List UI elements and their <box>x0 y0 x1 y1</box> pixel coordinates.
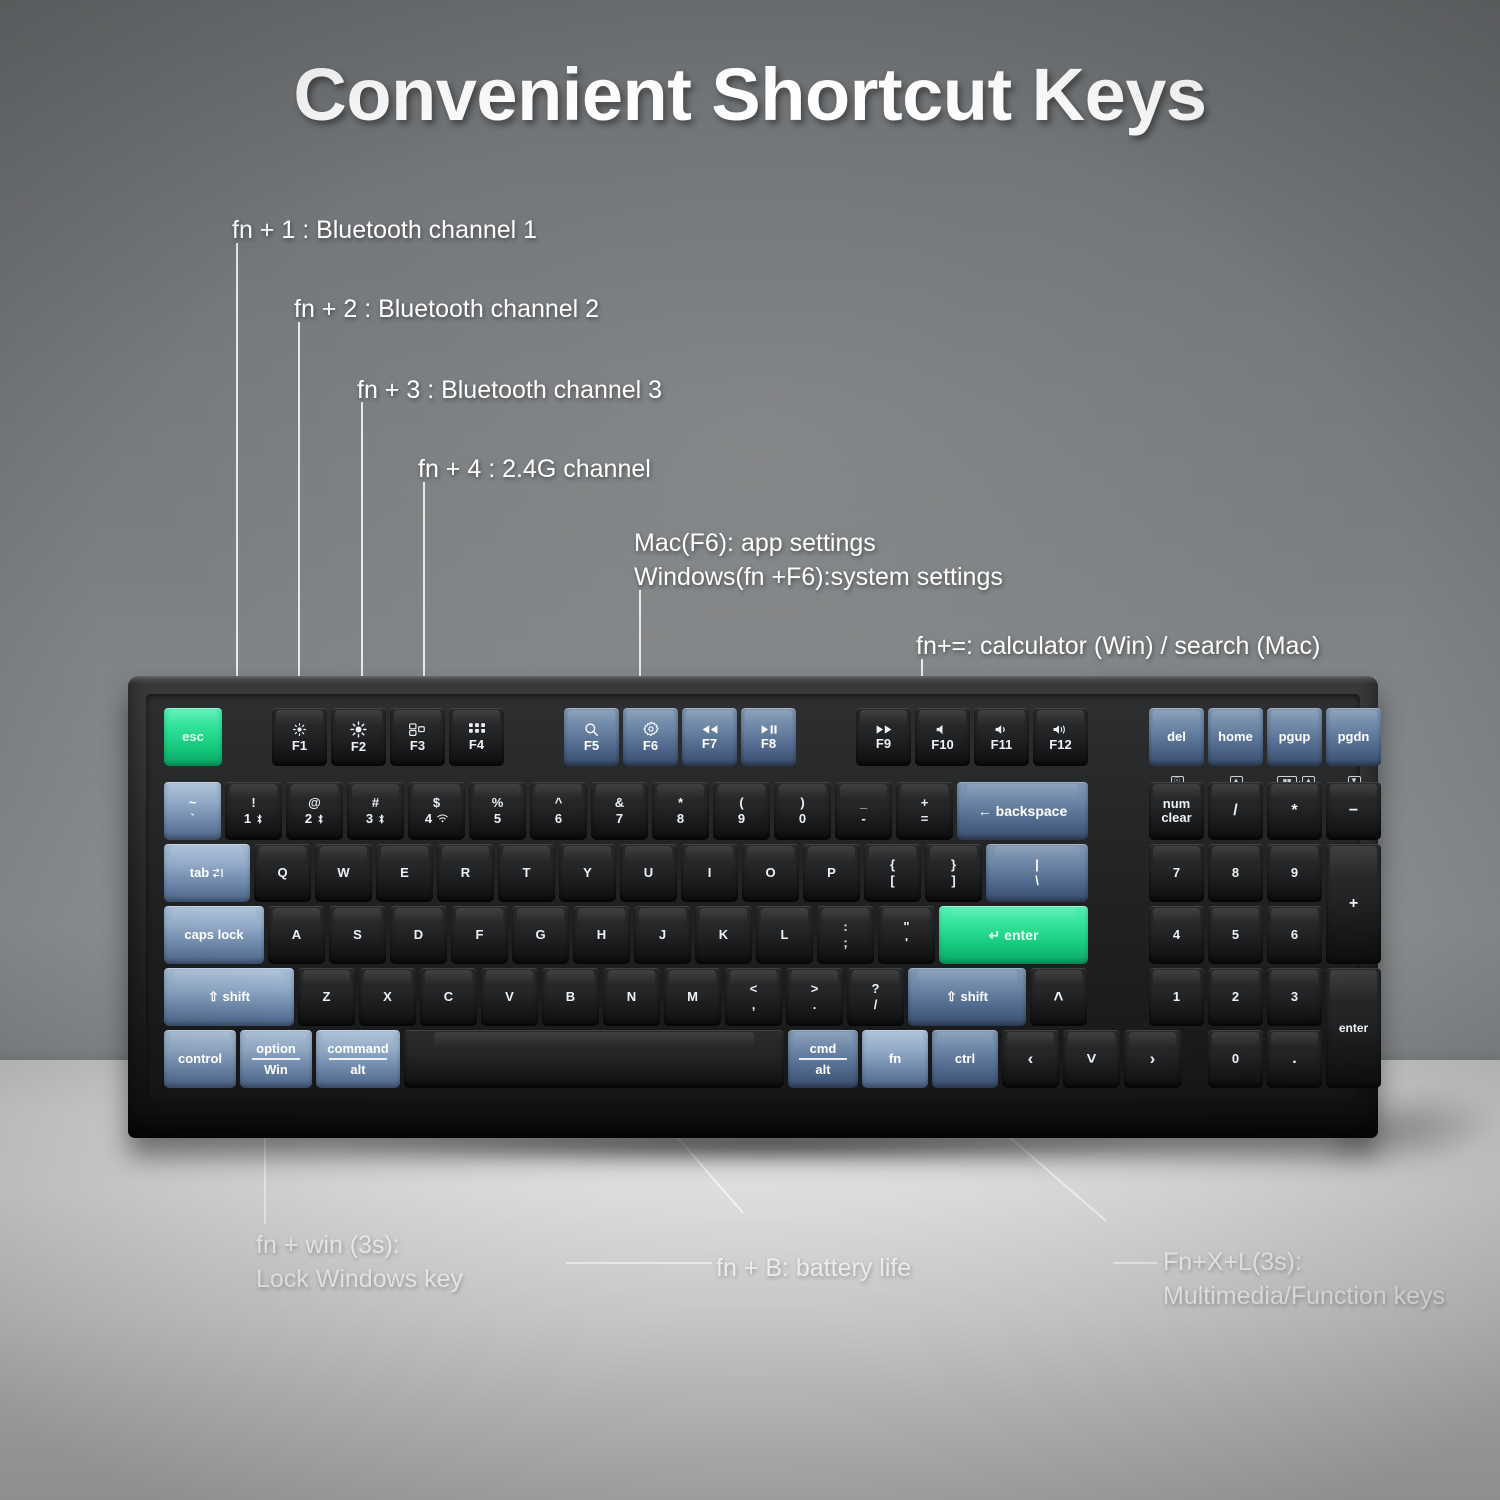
key-x[interactable]: X <box>359 968 416 1026</box>
key-home[interactable]: home <box>1208 708 1263 766</box>
key-arrow-left[interactable]: ‹ <box>1002 1030 1059 1088</box>
key-f10[interactable]: F10 <box>915 708 970 766</box>
key-backspace[interactable]: ← backspace <box>957 782 1088 840</box>
callout-24g-channel: fn + 4 : 2.4G channel <box>418 452 651 486</box>
keyboard-plate: esc F1 F2 F3 F4 <box>146 694 1360 1100</box>
keyboard-body: esc F1 F2 F3 F4 <box>128 676 1378 1138</box>
launchpad-icon <box>469 723 485 736</box>
key-pgup[interactable]: pgup <box>1267 708 1322 766</box>
key-p[interactable]: P <box>803 844 860 902</box>
key-arrow-up[interactable]: ˄ <box>1030 968 1087 1026</box>
key-numpad-8[interactable]: 8 <box>1208 844 1263 902</box>
key-shift-right[interactable]: ⇧ shift <box>908 968 1026 1026</box>
key-del[interactable]: del <box>1149 708 1204 766</box>
key-enter[interactable]: ↵ enter <box>939 906 1088 964</box>
key-numpad-minus[interactable]: − <box>1326 782 1381 840</box>
key-c[interactable]: C <box>420 968 477 1026</box>
key-shift-left[interactable]: ⇧ shift <box>164 968 294 1026</box>
key-9[interactable]: (9 <box>713 782 770 840</box>
key-4[interactable]: $ 4 <box>408 782 465 840</box>
wifi-icon <box>437 814 448 823</box>
key-numpad-9[interactable]: 9 <box>1267 844 1322 902</box>
key-comma[interactable]: <, <box>725 968 782 1026</box>
key-backslash[interactable]: |\ <box>986 844 1088 902</box>
key-j[interactable]: J <box>634 906 691 964</box>
fast-forward-icon <box>875 724 893 735</box>
gear-icon <box>643 721 659 737</box>
key-tab[interactable]: tab <box>164 844 250 902</box>
key-semicolon[interactable]: :; <box>817 906 874 964</box>
key-d[interactable]: D <box>390 906 447 964</box>
callout-bluetooth-2: fn + 2 : Bluetooth channel 2 <box>294 292 599 326</box>
key-1[interactable]: ! 1 <box>225 782 282 840</box>
key-caps-lock[interactable]: caps lock <box>164 906 264 964</box>
bluetooth-icon <box>378 814 385 824</box>
key-0[interactable]: )0 <box>774 782 831 840</box>
callout-multimedia-function: Fn+X+L(3s): Multimedia/Function keys <box>1163 1245 1445 1313</box>
key-numpad-1[interactable]: 1 <box>1149 968 1204 1026</box>
key-r[interactable]: R <box>437 844 494 902</box>
tab-arrows-icon <box>213 868 224 878</box>
key-num-clear[interactable]: num clear <box>1149 782 1204 840</box>
key-minus[interactable]: _- <box>835 782 892 840</box>
key-v[interactable]: V <box>481 968 538 1026</box>
key-g[interactable]: G <box>512 906 569 964</box>
key-8[interactable]: *8 <box>652 782 709 840</box>
key-6[interactable]: ^6 <box>530 782 587 840</box>
key-bracket-left[interactable]: {[ <box>864 844 921 902</box>
product-photo-scene: Convenient Shortcut Keys fn + 1 : Blueto… <box>0 0 1500 1500</box>
key-numpad-4[interactable]: 4 <box>1149 906 1204 964</box>
mission-control-icon <box>409 722 427 737</box>
key-slash[interactable]: ?/ <box>847 968 904 1026</box>
key-equal[interactable]: += <box>896 782 953 840</box>
key-f5[interactable]: F5 <box>564 708 619 766</box>
key-f2[interactable]: F2 <box>331 708 386 766</box>
key-f4[interactable]: F4 <box>449 708 504 766</box>
leader-line-battery-h <box>566 1262 712 1264</box>
callout-f6-settings: Mac(F6): app settings Windows(fn +F6):sy… <box>634 526 1003 594</box>
page-title: Convenient Shortcut Keys <box>0 52 1500 137</box>
key-z[interactable]: Z <box>298 968 355 1026</box>
key-numpad-enter[interactable]: enter <box>1326 968 1381 1088</box>
callout-battery-life: fn + B: battery life <box>716 1251 911 1285</box>
key-numpad-multiply[interactable]: * <box>1267 782 1322 840</box>
key-f3[interactable]: F3 <box>390 708 445 766</box>
key-5[interactable]: %5 <box>469 782 526 840</box>
key-bracket-right[interactable]: }] <box>925 844 982 902</box>
key-e[interactable]: E <box>376 844 433 902</box>
key-period[interactable]: >. <box>786 968 843 1026</box>
callout-calculator-search: fn+=: calculator (Win) / search (Mac) <box>916 629 1320 663</box>
key-7[interactable]: &7 <box>591 782 648 840</box>
callout-bluetooth-3: fn + 3 : Bluetooth channel 3 <box>357 373 662 407</box>
key-control[interactable]: control <box>164 1030 236 1088</box>
key-arrow-right[interactable]: › <box>1124 1030 1181 1088</box>
key-i[interactable]: I <box>681 844 738 902</box>
key-command-alt[interactable]: command alt <box>316 1030 400 1088</box>
key-tilde[interactable]: ~ ` <box>164 782 221 840</box>
key-o[interactable]: O <box>742 844 799 902</box>
key-f12[interactable]: F12 <box>1033 708 1088 766</box>
key-f[interactable]: F <box>451 906 508 964</box>
key-fn[interactable]: fn <box>862 1030 928 1088</box>
key-f11[interactable]: F11 <box>974 708 1029 766</box>
key-numpad-3[interactable]: 3 <box>1267 968 1322 1026</box>
key-f6[interactable]: F6 <box>623 708 678 766</box>
key-q[interactable]: Q <box>254 844 311 902</box>
mute-icon <box>935 723 950 736</box>
bluetooth-icon <box>317 814 324 824</box>
key-option-win[interactable]: option Win <box>240 1030 312 1088</box>
key-a[interactable]: A <box>268 906 325 964</box>
key-3[interactable]: # 3 <box>347 782 404 840</box>
key-f7[interactable]: F7 <box>682 708 737 766</box>
key-f8[interactable]: F8 <box>741 708 796 766</box>
key-esc[interactable]: esc <box>164 708 222 766</box>
key-h[interactable]: H <box>573 906 630 964</box>
search-icon <box>584 722 599 737</box>
key-quote[interactable]: "' <box>878 906 935 964</box>
key-numpad-6[interactable]: 6 <box>1267 906 1322 964</box>
key-numpad-divide[interactable]: / <box>1208 782 1263 840</box>
key-f9[interactable]: F9 <box>856 708 911 766</box>
leader-line-multimedia-h <box>1113 1262 1157 1264</box>
volume-down-icon <box>994 723 1010 736</box>
key-cmd-alt-right[interactable]: cmd alt <box>788 1030 858 1088</box>
key-numpad-5[interactable]: 5 <box>1208 906 1263 964</box>
key-w[interactable]: W <box>315 844 372 902</box>
key-spacebar[interactable] <box>404 1030 784 1088</box>
key-numpad-plus[interactable]: + <box>1326 844 1381 964</box>
brightness-low-icon <box>292 722 307 737</box>
key-t[interactable]: T <box>498 844 555 902</box>
key-y[interactable]: Y <box>559 844 616 902</box>
key-2[interactable]: @ 2 <box>286 782 343 840</box>
key-l[interactable]: L <box>756 906 813 964</box>
callout-bluetooth-1: fn + 1 : Bluetooth channel 1 <box>232 213 537 247</box>
key-pgdn[interactable]: pgdn <box>1326 708 1381 766</box>
key-numpad-0[interactable]: 0 <box>1208 1030 1263 1088</box>
key-f1[interactable]: F1 <box>272 708 327 766</box>
volume-up-icon <box>1052 723 1069 736</box>
bluetooth-icon <box>256 814 263 824</box>
key-ctrl-right[interactable]: ctrl <box>932 1030 998 1088</box>
key-numpad-2[interactable]: 2 <box>1208 968 1263 1026</box>
rewind-icon <box>701 724 719 735</box>
key-divider <box>252 1058 301 1059</box>
key-divider <box>329 1058 387 1059</box>
key-numpad-7[interactable]: 7 <box>1149 844 1204 902</box>
key-b[interactable]: B <box>542 968 599 1026</box>
key-arrow-down[interactable]: ˅ <box>1063 1030 1120 1088</box>
play-pause-icon <box>760 724 778 735</box>
key-k[interactable]: K <box>695 906 752 964</box>
callout-lock-windows-key: fn + win (3s): Lock Windows key <box>256 1228 463 1296</box>
key-u[interactable]: U <box>620 844 677 902</box>
key-s[interactable]: S <box>329 906 386 964</box>
keyboard-bevel <box>128 676 1378 684</box>
brightness-high-icon <box>350 721 367 738</box>
key-numpad-decimal[interactable]: . <box>1267 1030 1322 1088</box>
key-divider <box>799 1058 847 1059</box>
key-m[interactable]: M <box>664 968 721 1026</box>
key-n[interactable]: N <box>603 968 660 1026</box>
